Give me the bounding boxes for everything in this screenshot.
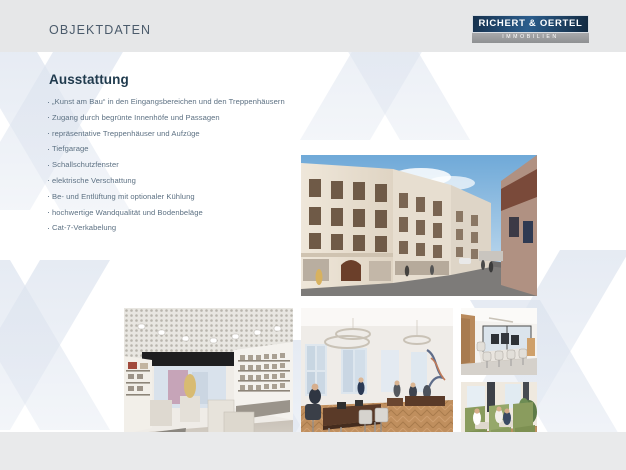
logo-secondary-text: IMMOBILIEN xyxy=(472,33,589,43)
list-item: „Kunst am Bau“ in den Eingangsbereichen … xyxy=(47,97,292,107)
list-item: Tiefgarage xyxy=(47,144,292,154)
page-title: OBJEKTDATEN xyxy=(49,23,151,37)
list-item: repräsentative Treppenhäuser und Aufzüge xyxy=(47,129,292,139)
footer-band xyxy=(0,432,626,470)
list-item: Cat-7-Verkabelung xyxy=(47,223,292,233)
section-heading: Ausstattung xyxy=(49,72,129,87)
logo-primary-text: RICHERT & OERTEL xyxy=(472,15,589,33)
list-item: hochwertige Wandqualität und Bodenbeläge xyxy=(47,208,292,218)
slide-content: Ausstattung „Kunst am Bau“ in den Eingan… xyxy=(0,52,626,432)
list-item: elektrische Verschattung xyxy=(47,176,292,186)
presentation-slide: OBJEKTDATEN RICHERT & OERTEL IMMOBILIEN … xyxy=(0,0,626,470)
meeting-room-photo xyxy=(461,308,537,375)
company-logo: RICHERT & OERTEL IMMOBILIEN xyxy=(472,15,589,43)
feature-list: „Kunst am Bau“ in den Eingangsbereichen … xyxy=(47,97,292,239)
list-item: Be- und Entlüftung mit optionaler Kühlun… xyxy=(47,192,292,202)
street-view-facade-photo xyxy=(301,155,537,296)
list-item: Zugang durch begrünte Innenhöfe und Pass… xyxy=(47,113,292,123)
list-item: Schallschutzfenster xyxy=(47,160,292,170)
